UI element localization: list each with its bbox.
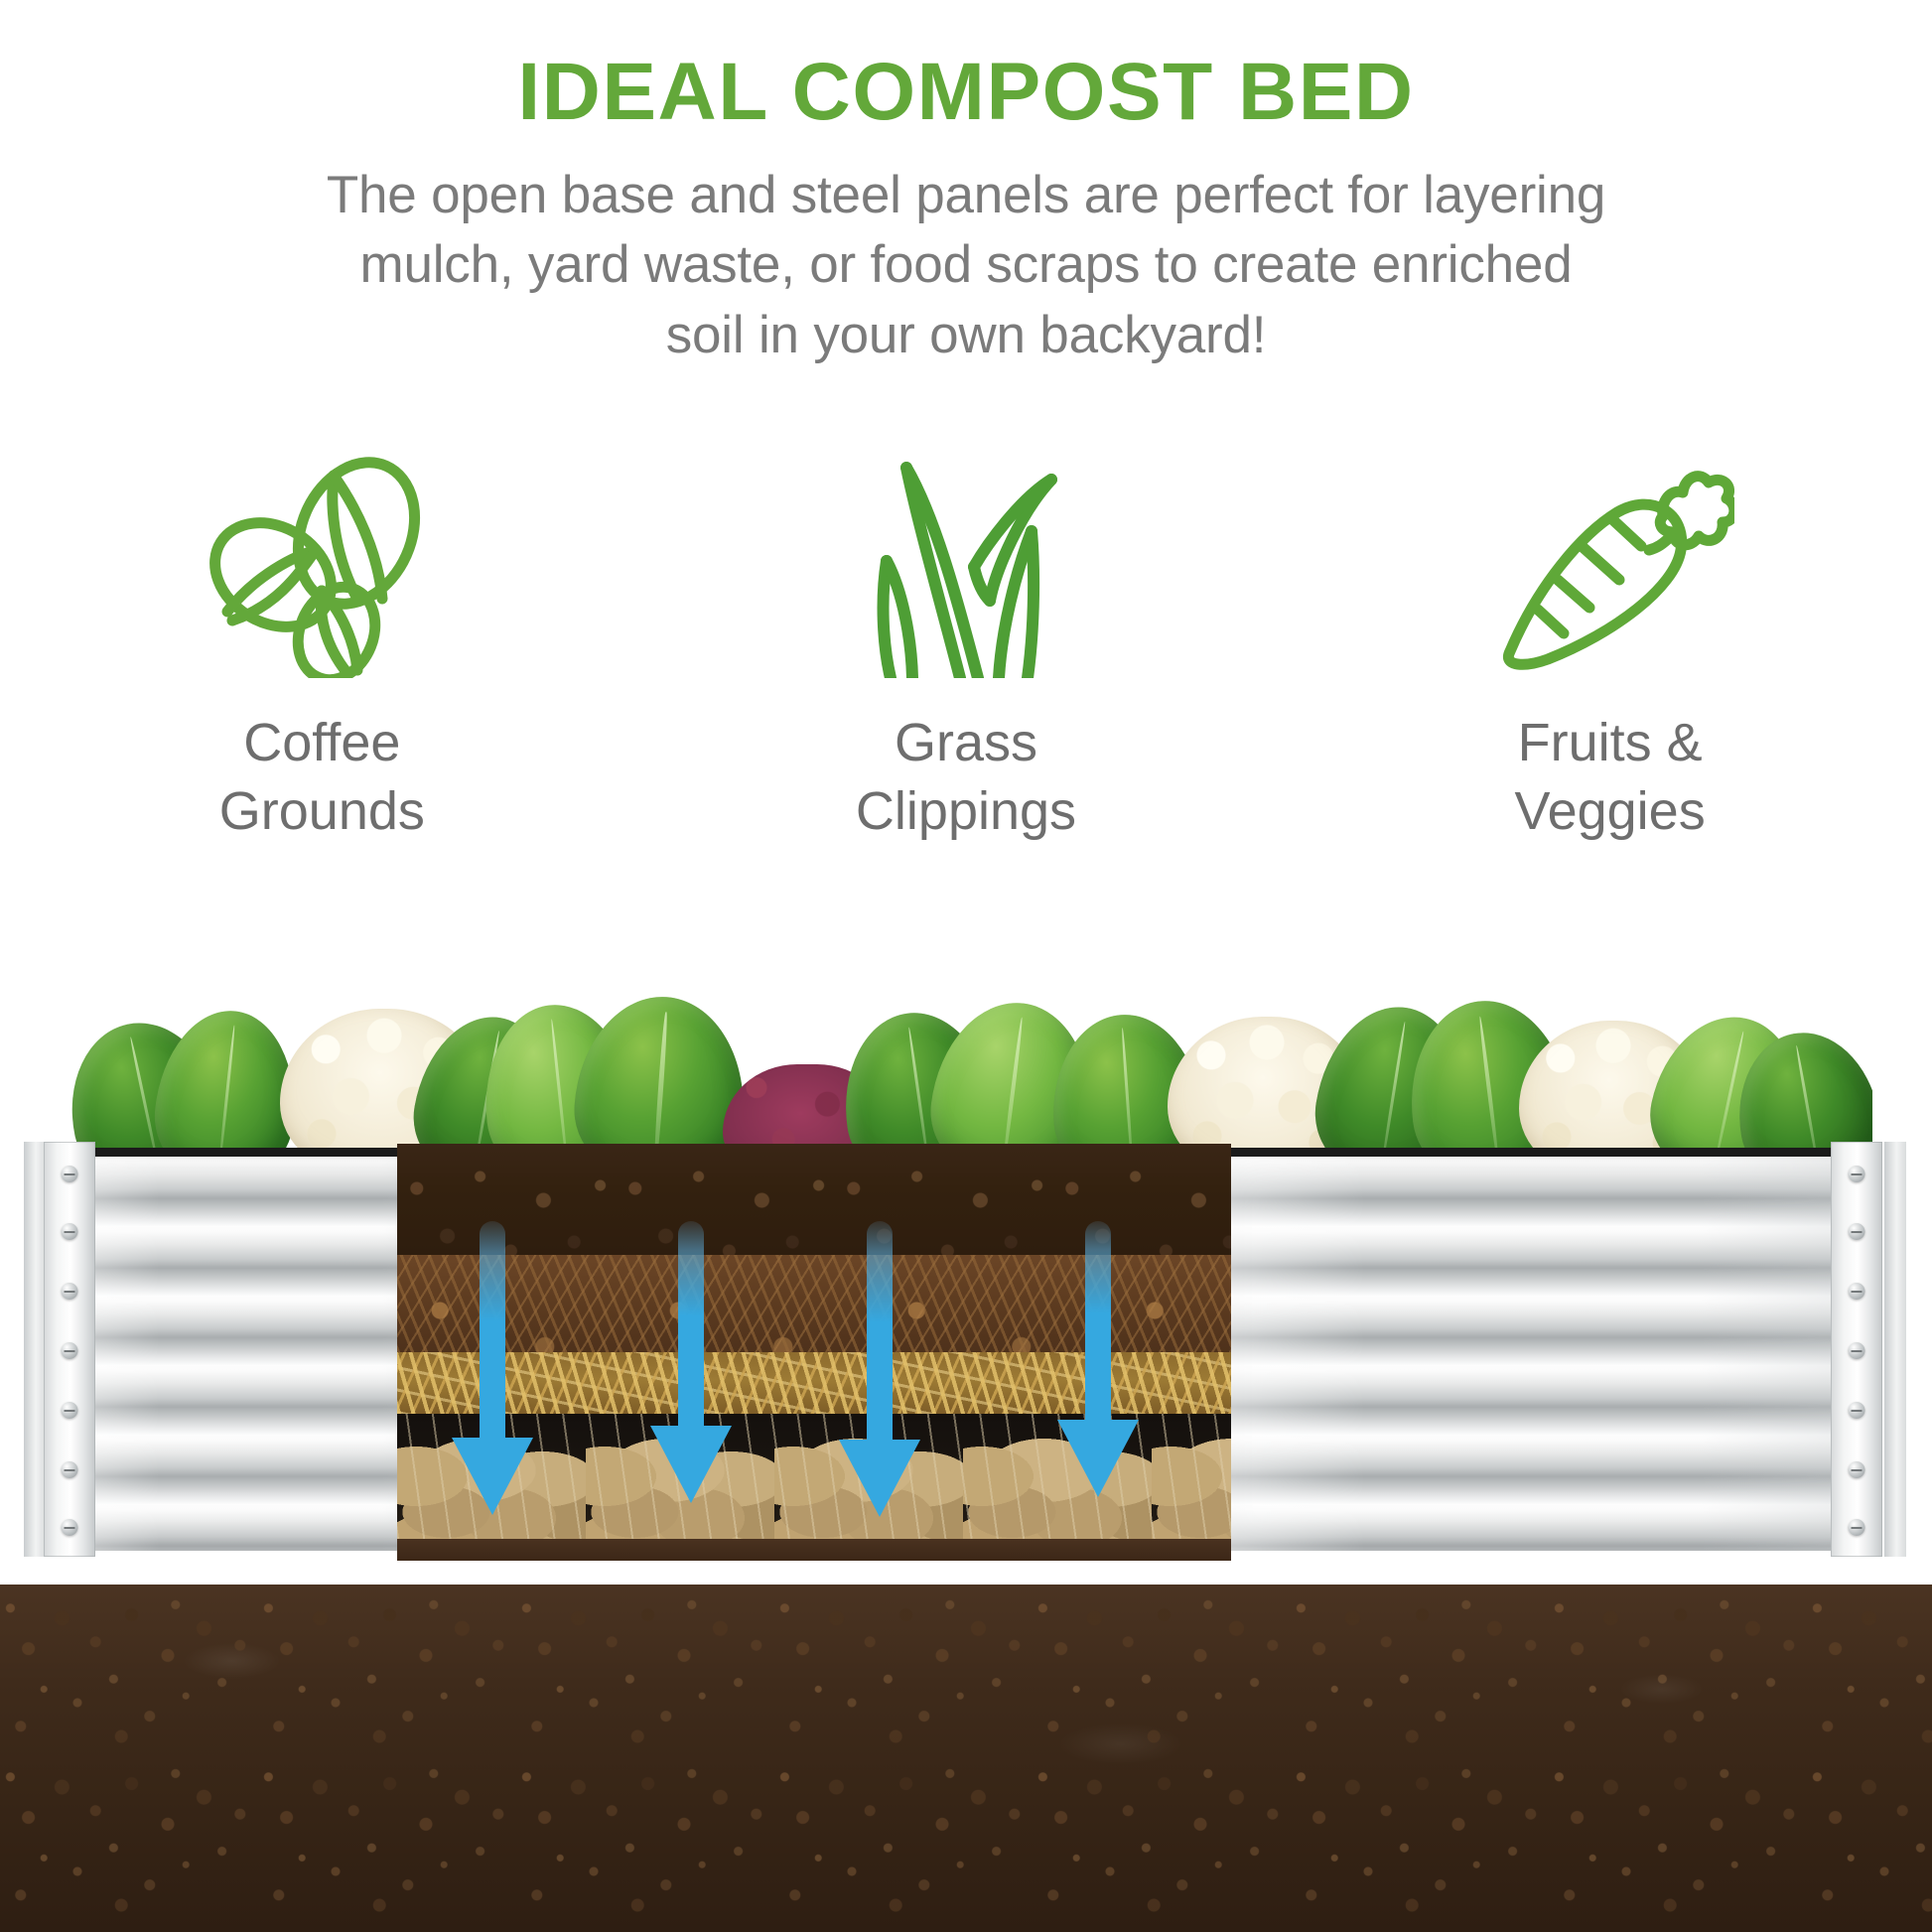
post-screw — [1849, 1519, 1865, 1536]
page-title: IDEAL COMPOST BED — [0, 52, 1932, 133]
right-panel-outer-edge — [1884, 1142, 1906, 1557]
post-screw — [1849, 1166, 1865, 1182]
cross-section-base — [397, 1539, 1231, 1561]
post-screw — [1849, 1402, 1865, 1419]
post-screw — [62, 1461, 78, 1478]
feature-list: Coffee Grounds — [0, 445, 1932, 845]
drainage-arrow — [867, 1221, 893, 1442]
carrot-icon — [1486, 445, 1734, 683]
feature-fruits-veggies: Fruits & Veggies — [1332, 445, 1888, 845]
post-screw — [62, 1342, 78, 1359]
subtitle-line-1: The open base and steel panels are perfe… — [0, 161, 1932, 230]
feature-coffee-grounds: Coffee Grounds — [44, 445, 600, 845]
left-panel-outer-edge — [24, 1142, 46, 1557]
label-line-1: Coffee — [219, 709, 425, 777]
post-screw — [1849, 1342, 1865, 1359]
drainage-arrow — [480, 1221, 505, 1440]
post-screw — [62, 1402, 78, 1419]
drainage-arrow-head — [1057, 1420, 1139, 1497]
post-screw — [62, 1223, 78, 1240]
infographic-page: IDEAL COMPOST BED The open base and stee… — [0, 0, 1932, 1932]
page-subtitle: The open base and steel panels are perfe… — [0, 161, 1932, 370]
subtitle-line-2: mulch, yard waste, or food scraps to cre… — [0, 230, 1932, 300]
feature-grass-clippings: Grass Clippings — [688, 445, 1244, 845]
post-screw — [62, 1283, 78, 1300]
grass-blades-icon — [857, 445, 1075, 683]
drainage-arrow-head — [452, 1438, 533, 1515]
label-line-1: Fruits & — [1515, 709, 1706, 777]
right-steel-panel — [1223, 1148, 1868, 1551]
product-photo-scene — [0, 993, 1932, 1932]
drainage-arrow-head — [650, 1426, 732, 1503]
feature-label-coffee-grounds: Coffee Grounds — [219, 709, 425, 845]
label-line-2: Veggies — [1515, 777, 1706, 846]
feature-label-grass-clippings: Grass Clippings — [856, 709, 1076, 845]
header: IDEAL COMPOST BED The open base and stee… — [0, 0, 1932, 370]
subtitle-line-3: soil in your own backyard! — [0, 301, 1932, 370]
drainage-arrow-head — [839, 1440, 920, 1517]
label-line-1: Grass — [856, 709, 1076, 777]
right-corner-post — [1831, 1142, 1882, 1557]
left-corner-post — [44, 1142, 95, 1557]
post-screw — [62, 1166, 78, 1182]
label-line-2: Grounds — [219, 777, 425, 846]
drainage-arrow — [1085, 1221, 1111, 1422]
post-screw — [1849, 1461, 1865, 1478]
coffee-beans-icon — [198, 445, 446, 683]
ground-soil — [0, 1585, 1932, 1932]
label-line-2: Clippings — [856, 777, 1076, 846]
post-screw — [62, 1519, 78, 1536]
drainage-arrow — [678, 1221, 704, 1428]
post-screw — [1849, 1223, 1865, 1240]
feature-label-fruits-veggies: Fruits & Veggies — [1515, 709, 1706, 845]
post-screw — [1849, 1283, 1865, 1300]
